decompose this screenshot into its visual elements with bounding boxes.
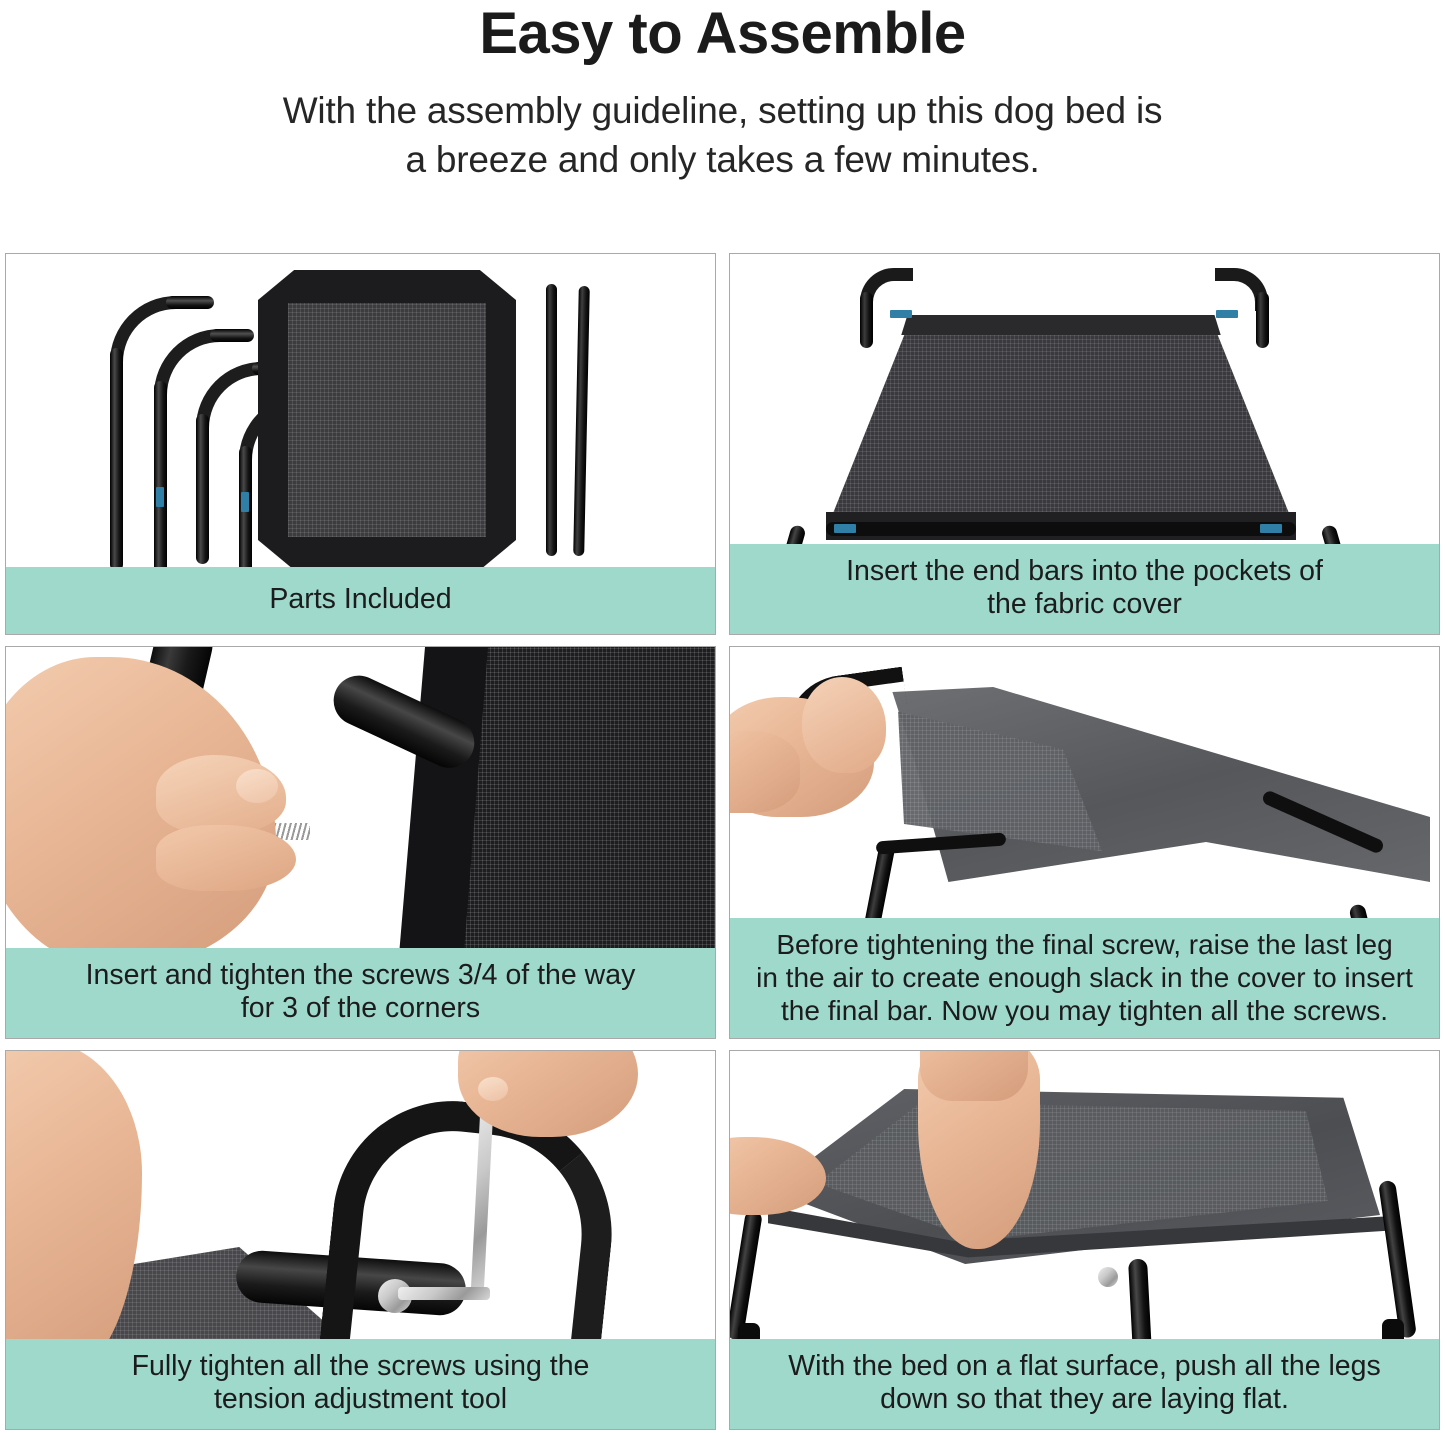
fingernail [236, 769, 278, 803]
page-title: Easy to Assemble [0, 2, 1445, 65]
hex-key-short-arm [398, 1287, 490, 1300]
part-straight-end-bar-2 [573, 286, 590, 556]
frame-sticker-top-left [890, 310, 912, 318]
bed-leg-front-left [730, 1210, 763, 1341]
cover-mesh-field [288, 303, 486, 537]
steps-grid: Parts Included [5, 253, 1440, 1430]
step-6-caption: With the bed on a flat surface, push all… [730, 1339, 1439, 1429]
frame-sticker-left [834, 524, 856, 533]
caption-line: Before tightening the final screw, raise… [738, 928, 1431, 961]
corner-screw [1098, 1267, 1118, 1287]
leg-blue-sticker [156, 487, 164, 507]
caption-line: down so that they are laying flat. [740, 1383, 1429, 1417]
leg-shaft [196, 414, 209, 564]
bed-leg-back-right [1378, 1180, 1417, 1339]
deck-mesh [826, 310, 1296, 540]
deck-top-pocket [901, 315, 1221, 336]
caption-line: for 3 of the corners [16, 992, 705, 1026]
step-3-caption: Insert and tighten the screws 3/4 of the… [6, 948, 715, 1038]
bed-deck [826, 310, 1296, 540]
part-fabric-mesh-cover [258, 270, 516, 570]
caption-line: in the air to create enough slack in the… [738, 961, 1431, 994]
caption-line: the fabric cover [740, 588, 1429, 622]
frame-front-rail [826, 522, 1296, 536]
step-panel-5: Fully tighten all the screws using the t… [5, 1050, 716, 1430]
step-1-caption: Parts Included [6, 567, 715, 634]
caption-line: Parts Included [16, 583, 705, 617]
hand-right [802, 677, 886, 773]
subtitle-line-1: With the assembly guideline, setting up … [0, 87, 1445, 136]
step-2-caption: Insert the end bars into the pockets of … [730, 544, 1439, 634]
step-panel-2: Insert the end bars into the pockets of … [729, 253, 1440, 635]
step-panel-6: With the bed on a flat surface, push all… [729, 1050, 1440, 1430]
frame-sticker-top-right [1216, 310, 1238, 318]
caption-line: Insert and tighten the screws 3/4 of the… [16, 959, 705, 993]
caption-line: tension adjustment tool [16, 1383, 705, 1417]
frame-sticker-right [1260, 524, 1282, 533]
leg-arm [166, 296, 214, 309]
step-panel-3: Insert and tighten the screws 3/4 of the… [5, 646, 716, 1039]
step-5-caption: Fully tighten all the screws using the t… [6, 1339, 715, 1429]
fingernail [478, 1077, 508, 1101]
step-4-caption: Before tightening the final screw, raise… [730, 918, 1439, 1038]
caption-line: Insert the end bars into the pockets of [740, 555, 1429, 589]
header: Easy to Assemble With the assembly guide… [0, 0, 1445, 185]
part-straight-end-bar-1 [546, 284, 557, 556]
leg-arm [210, 329, 254, 342]
step-panel-4: Before tightening the final screw, raise… [729, 646, 1440, 1039]
index-finger [156, 825, 296, 891]
subtitle-line-2: a breeze and only takes a few minutes. [0, 136, 1445, 185]
forearm [920, 1051, 1028, 1101]
caption-line: Fully tighten all the screws using the [16, 1350, 705, 1384]
leg-shaft [154, 381, 167, 574]
step-panel-1: Parts Included [5, 253, 716, 635]
caption-line: With the bed on a flat surface, push all… [740, 1350, 1429, 1384]
caption-line: the final bar. Now you may tighten all t… [738, 994, 1431, 1027]
leg-shaft [110, 348, 123, 571]
leg-blue-sticker [241, 492, 249, 512]
page-subtitle: With the assembly guideline, setting up … [0, 65, 1445, 185]
